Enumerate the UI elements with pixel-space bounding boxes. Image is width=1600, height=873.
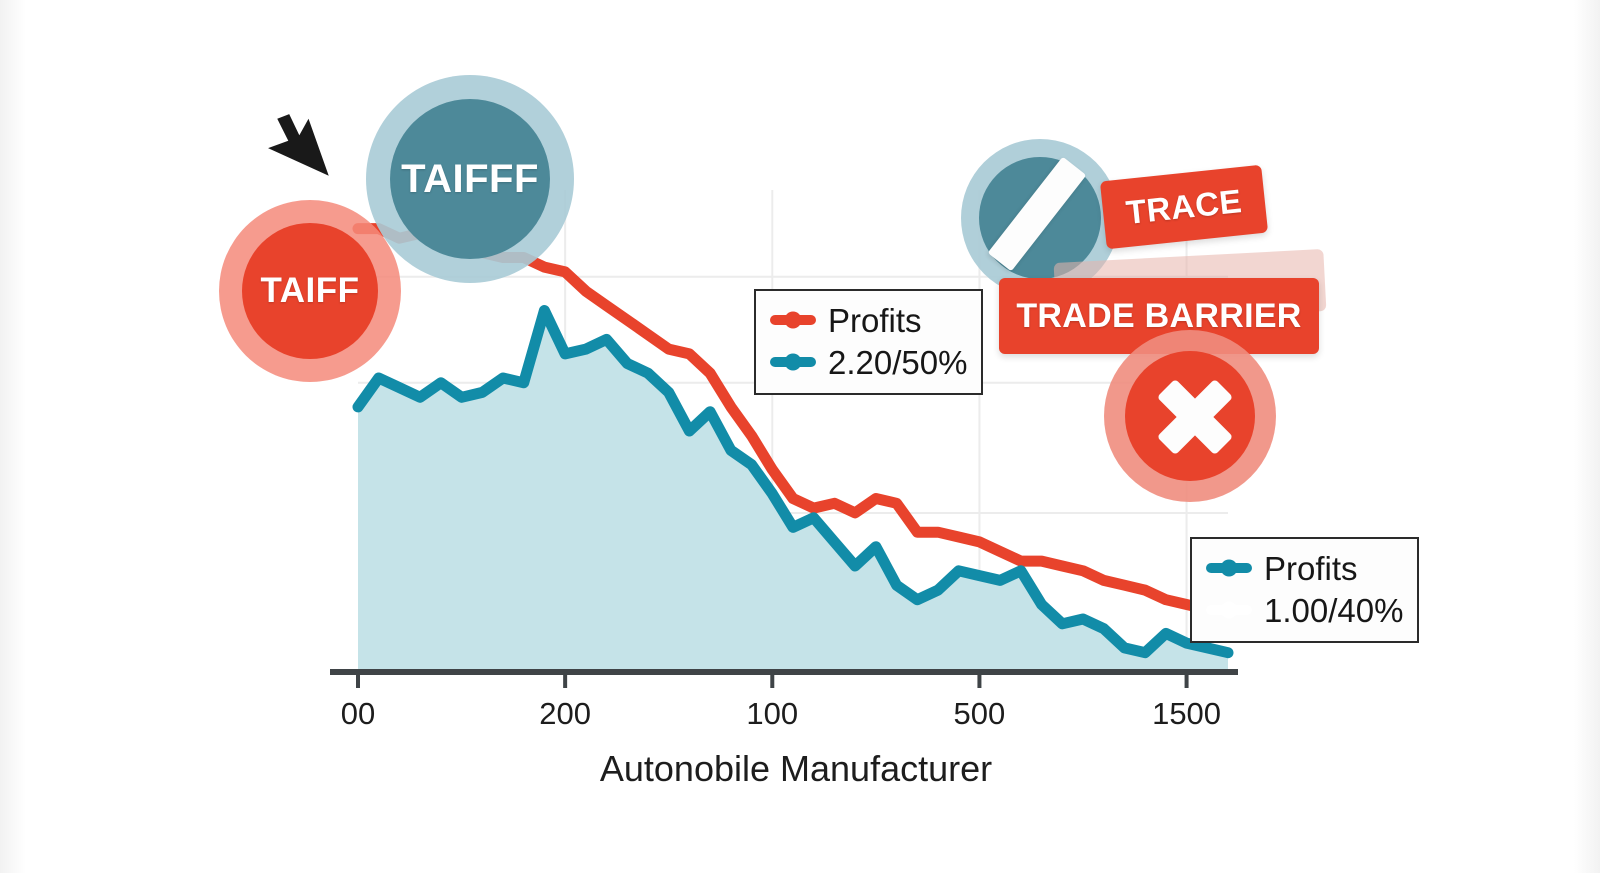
legend-row[interactable]: Profits: [770, 299, 967, 341]
legend-top[interactable]: Profits 2.20/50%: [754, 289, 983, 395]
legend-row[interactable]: Profits: [1206, 547, 1403, 589]
x-tick-label: 00: [341, 696, 375, 732]
legend-row[interactable]: 1.00/40%: [1206, 589, 1403, 631]
legend-item-label: Profits: [828, 304, 922, 337]
x-tick-label: 500: [954, 696, 1006, 732]
legend-color-key: [770, 357, 816, 367]
x-axis-title-text: Autonobile Manufacturer: [600, 748, 992, 790]
x-axis: [330, 672, 1238, 688]
legend-color-key: [1206, 563, 1252, 573]
plot-area: [0, 0, 1600, 873]
tariff-teal-badge[interactable]: TAIFFF: [390, 99, 550, 259]
x-tick-label: 100: [746, 696, 798, 732]
tariff-red-badge[interactable]: TAIFF: [242, 223, 378, 359]
x-tick-label: 1500: [1152, 696, 1221, 732]
legend-item-label: 2.20/50%: [828, 346, 967, 379]
legend-item-label: Profits: [1264, 552, 1358, 585]
legend-item-label: 1.00/40%: [1264, 594, 1403, 627]
legend-color-key: [770, 315, 816, 325]
x-tick-label: 200: [539, 696, 591, 732]
legend-bottom[interactable]: Profits 1.00/40%: [1190, 537, 1419, 643]
x-axis-title: Autonobile Manufacturer: [0, 748, 1600, 790]
chart-figure: 002001005001500 Autonobile Manufacturer …: [0, 0, 1600, 873]
legend-row[interactable]: 2.20/50%: [770, 341, 967, 383]
legend-color-key-blank: [1206, 605, 1252, 615]
